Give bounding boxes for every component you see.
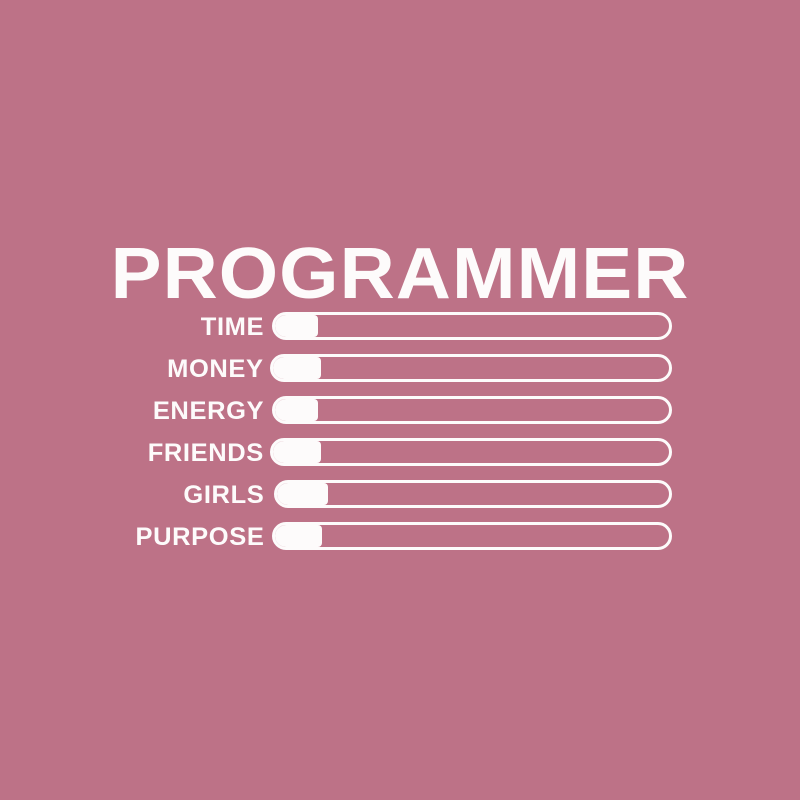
stat-row: FRIENDS	[0, 437, 800, 479]
stat-label: PURPOSE	[135, 521, 264, 553]
stat-row: PURPOSE	[0, 521, 800, 563]
stat-bar-track	[272, 522, 672, 550]
page-title: PROGRAMMER	[0, 243, 800, 305]
poster-canvas: PROGRAMMER TIMEMONEYENERGYFRIENDSGIRLSPU…	[0, 0, 800, 800]
stat-bar-fill	[273, 357, 321, 379]
stat-label: FRIENDS	[148, 437, 264, 469]
stat-bar-fill	[275, 525, 322, 547]
stat-row: TIME	[0, 311, 800, 353]
stat-label: ENERGY	[153, 395, 264, 427]
stat-bar-track	[270, 354, 672, 382]
stat-row: MONEY	[0, 353, 800, 395]
stat-bar-track	[270, 438, 672, 466]
programmer-stats-artwork: PROGRAMMER TIMEMONEYENERGYFRIENDSGIRLSPU…	[0, 0, 800, 800]
stat-label: MONEY	[167, 353, 264, 385]
stat-row: GIRLS	[0, 479, 800, 521]
stat-label: TIME	[201, 311, 264, 343]
stat-bar-fill	[275, 315, 318, 337]
stat-label: GIRLS	[183, 479, 264, 511]
stat-row: ENERGY	[0, 395, 800, 437]
stat-bar-fill	[273, 441, 321, 463]
stat-bar-fill	[277, 483, 328, 505]
stat-bar-fill	[275, 399, 318, 421]
stat-bar-track	[272, 312, 672, 340]
stat-bar-track	[274, 480, 672, 508]
stat-bar-track	[272, 396, 672, 424]
stat-bar-list: TIMEMONEYENERGYFRIENDSGIRLSPURPOSE	[0, 311, 800, 563]
